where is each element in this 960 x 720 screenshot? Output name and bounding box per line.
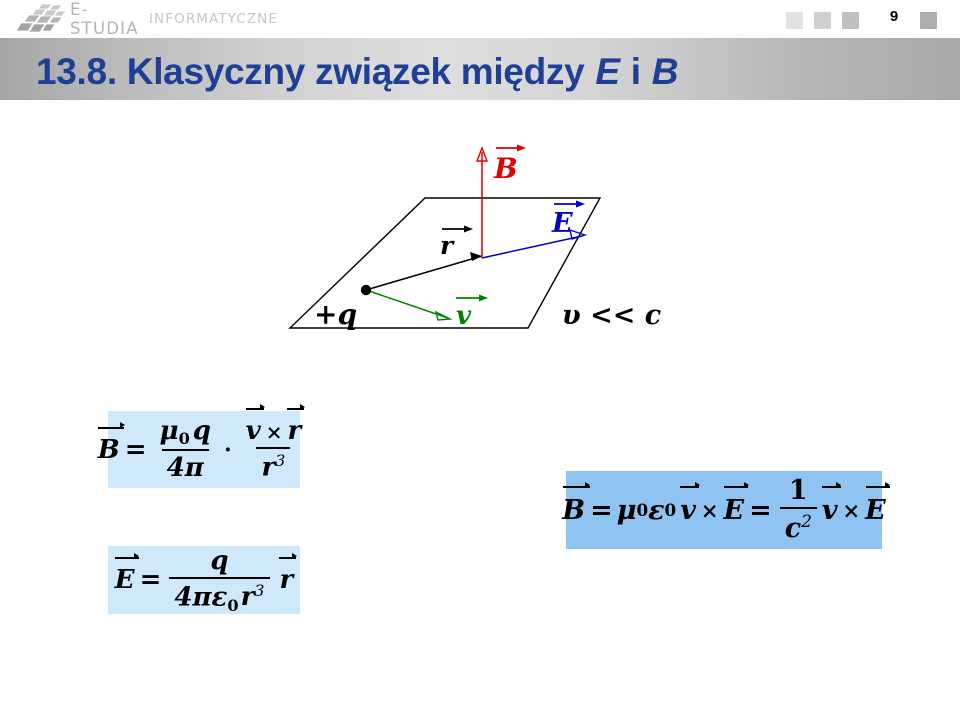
formula-b-rden: r — [261, 453, 275, 483]
decorative-square-4 — [920, 12, 937, 29]
formula-c-v2: v — [821, 495, 839, 526]
formula-c-c-exp: 2 — [801, 511, 812, 531]
formula-e-lhs: E — [114, 565, 136, 595]
vector-v — [366, 290, 450, 320]
formula-e-four: 4 — [174, 582, 192, 612]
svg-text:B: B — [493, 152, 518, 185]
title-symbol-e: E — [594, 51, 620, 93]
formula-b-r: r — [287, 416, 303, 446]
vector-r — [366, 252, 482, 290]
formula-c-equals-2: = — [745, 495, 776, 526]
formula-c-cross-1: × — [697, 498, 723, 523]
svg-text:v: v — [456, 301, 472, 331]
charge-point — [361, 285, 371, 295]
slide-header: E-STUDIA INFORMATYCZNE 9 — [0, 0, 960, 38]
formula-b-cross: × — [262, 420, 287, 444]
formula-e-r: r — [239, 582, 255, 612]
decorative-square-1 — [786, 12, 803, 29]
title-text: Klasyczny związek między — [127, 51, 585, 93]
title-symbol-b: B — [651, 51, 679, 93]
page-number: 9 — [880, 8, 908, 25]
formula-b-q: q — [190, 416, 211, 446]
title-conjunction: i — [631, 51, 641, 93]
formula-c-lhs: B — [561, 495, 586, 526]
title-number: 13.8. — [36, 51, 117, 93]
field-vectors-diagram: r v E B — [270, 128, 690, 353]
formula-c-e2: E — [864, 495, 887, 526]
formula-e-pi: π — [193, 582, 212, 612]
formula-c-mu: μ — [617, 495, 637, 526]
svg-text:r: r — [440, 231, 455, 260]
cascading-tiles-logo-icon — [12, 3, 68, 36]
formula-b-pi: π — [185, 453, 204, 483]
brand-name-sub: INFORMATYCZNE — [149, 11, 278, 27]
formula-e-equals: = — [136, 565, 166, 595]
formula-b-mu-sub: 0 — [179, 429, 190, 448]
condition-label: υ << c — [562, 300, 661, 331]
formula-c-eps: ε — [648, 495, 664, 526]
vector-r-label: r — [440, 226, 473, 261]
formula-electric-field: E = q 4πε0r3 r — [108, 546, 300, 614]
page-title: 13.8. Klasyczny związek między E i B — [36, 50, 679, 94]
vector-v-label: v — [456, 295, 488, 332]
vector-b-label: B — [493, 145, 526, 186]
formula-e-q: q — [210, 546, 228, 576]
vector-b — [477, 148, 487, 258]
formula-b-rden-exp: 3 — [275, 451, 285, 470]
formula-c-cross-2: × — [839, 498, 865, 523]
formula-c-eps-sub: 0 — [665, 500, 677, 520]
formula-b-mu: μ — [160, 416, 179, 446]
formula-b-v: v — [245, 416, 262, 446]
formula-b-from-e: B = μ0 ε0 v × E = 1 c2 v × E — [566, 471, 882, 549]
svg-text:E: E — [551, 208, 573, 239]
brand-wordmark: E-STUDIA INFORMATYCZNE — [70, 8, 278, 30]
formula-c-equals-1: = — [586, 495, 617, 526]
formula-c-mu-sub: 0 — [636, 500, 648, 520]
formula-c-one: 1 — [789, 475, 808, 506]
formula-magnetic-field: B = μ0q 4π · v×r r3 — [108, 411, 300, 488]
decorative-square-3 — [842, 12, 859, 29]
formula-b-lhs: B — [97, 435, 121, 465]
brand-logo[interactable]: E-STUDIA INFORMATYCZNE — [8, 1, 278, 37]
formula-e-r-exp: 3 — [254, 581, 264, 600]
formula-b-four: 4 — [167, 453, 185, 483]
formula-e-eps: ε — [212, 582, 228, 612]
formula-b-equals: = — [121, 435, 151, 465]
brand-name-main: E-STUDIA — [70, 0, 142, 38]
charge-label: +q — [314, 298, 357, 331]
decorative-square-2 — [814, 12, 831, 29]
formula-b-dot: · — [220, 437, 236, 463]
formula-c-c: c — [785, 514, 801, 545]
formula-e-rvec: r — [279, 565, 295, 595]
formula-e-eps-sub: 0 — [227, 595, 238, 614]
formula-c-v1: v — [679, 495, 697, 526]
formula-c-e1: E — [723, 495, 746, 526]
